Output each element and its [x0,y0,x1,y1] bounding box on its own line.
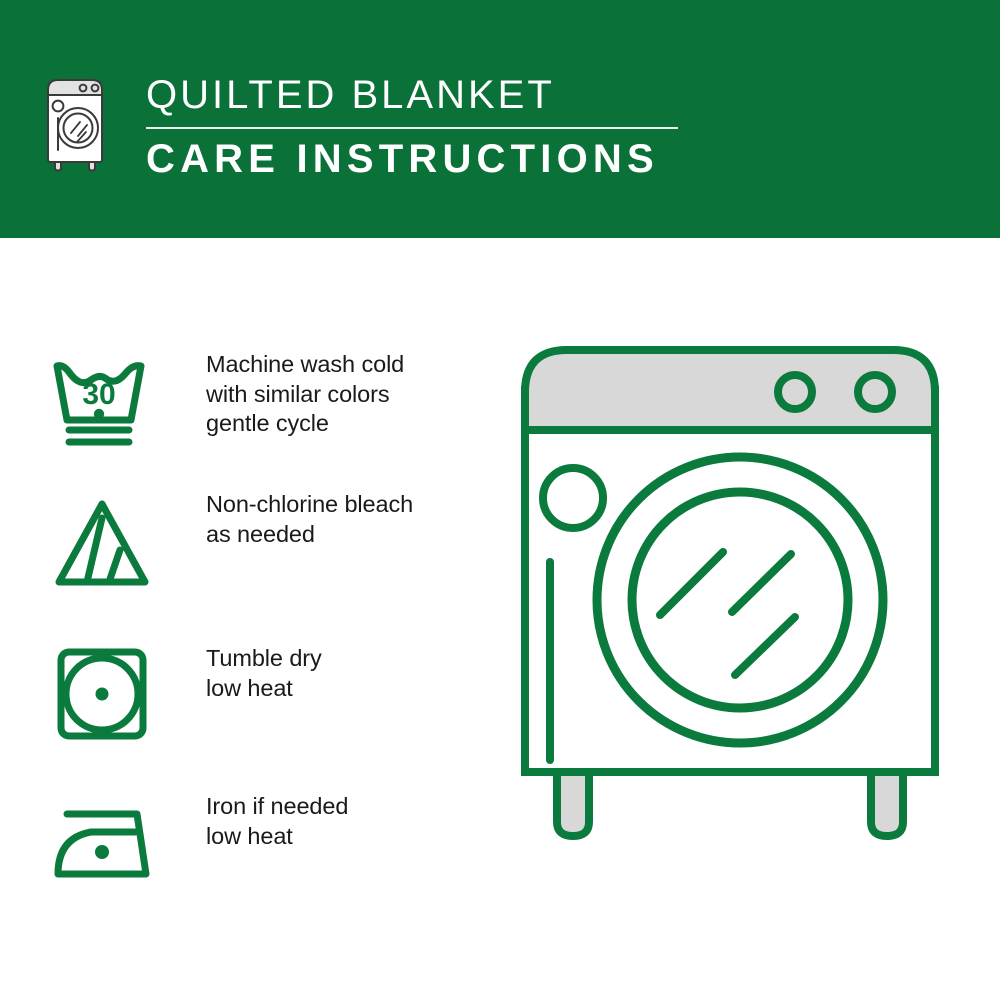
control-panel [525,350,935,430]
front-load-washing-machine-illustration [495,330,965,930]
care-instructions-page: QUILTED BLANKET CARE INSTRUCTIONS 30 [0,0,1000,1000]
care-item: 30 Machine wash cold with similar colors… [0,344,500,456]
header-banner: QUILTED BLANKET CARE INSTRUCTIONS [0,0,1000,238]
title-divider [146,127,678,129]
care-item-line: with similar colors [206,380,404,410]
care-item-line: Tumble dry [206,644,322,674]
wash-temperature-label: 30 [82,378,115,411]
care-item: Iron if needed low heat [0,786,500,898]
care-item: Non-chlorine bleach as needed [0,484,500,596]
care-item-line: low heat [206,822,348,852]
washing-machine-logo-icon [44,68,114,172]
tumble-dry-icon [42,638,162,750]
care-item-text: Tumble dry low heat [206,638,322,703]
care-item-line: Iron if needed [206,792,348,822]
care-item-line: low heat [206,674,322,704]
bleach-triangle-icon [42,484,162,596]
iron-icon [42,786,162,898]
machine-leg [557,772,589,836]
header-title-group: QUILTED BLANKET CARE INSTRUCTIONS [146,72,706,183]
wash-tub-30-icon: 30 [42,344,162,456]
care-instructions-list: 30 Machine wash cold with similar colors… [0,238,500,1000]
care-item-text: Non-chlorine bleach as needed [206,484,413,549]
care-item-line: Non-chlorine bleach [206,490,413,520]
care-item-line: Machine wash cold [206,350,404,380]
care-item-line: as needed [206,520,413,550]
care-item-text: Machine wash cold with similar colors ge… [206,344,404,439]
page-subtitle: CARE INSTRUCTIONS [146,135,706,183]
care-item: Tumble dry low heat [0,638,500,750]
page-title: QUILTED BLANKET [146,72,706,118]
machine-leg [871,772,903,836]
care-item-text: Iron if needed low heat [206,786,348,851]
care-item-line: gentle cycle [206,409,404,439]
